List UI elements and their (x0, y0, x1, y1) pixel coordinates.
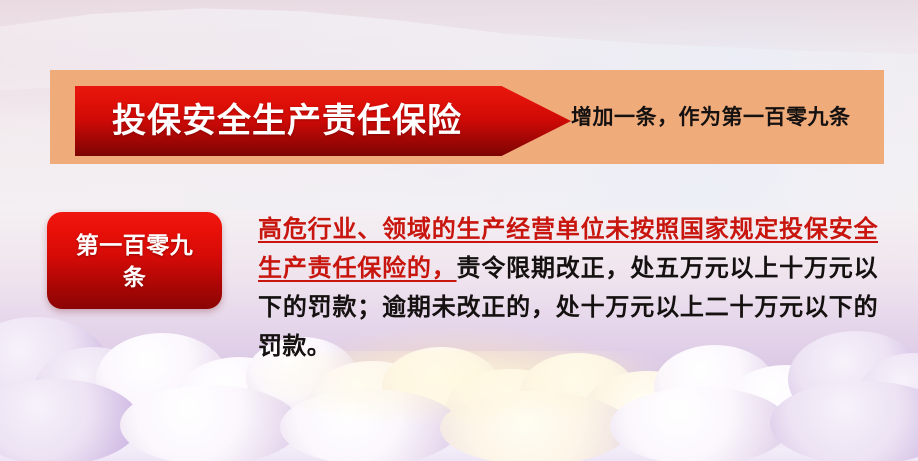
header-banner: 投保安全生产责任保险 增加一条，作为第一百零九条 (50, 70, 884, 164)
article-number-label: 第一百零九条 (65, 229, 204, 293)
cloud-warm-highlight (159, 351, 759, 461)
article-body-text: 高危行业、领域的生产经营单位未按照国家规定投保安全生产责任保险的，责令限期改正，… (258, 210, 878, 366)
article-number-badge: 第一百零九条 (47, 212, 222, 309)
banner-title: 投保安全生产责任保险 (112, 98, 512, 144)
banner-amendment-note: 增加一条，作为第一百零九条 (571, 103, 851, 133)
slide-canvas: 投保安全生产责任保险 增加一条，作为第一百零九条 第一百零九条 高危行业、领域的… (0, 0, 918, 461)
